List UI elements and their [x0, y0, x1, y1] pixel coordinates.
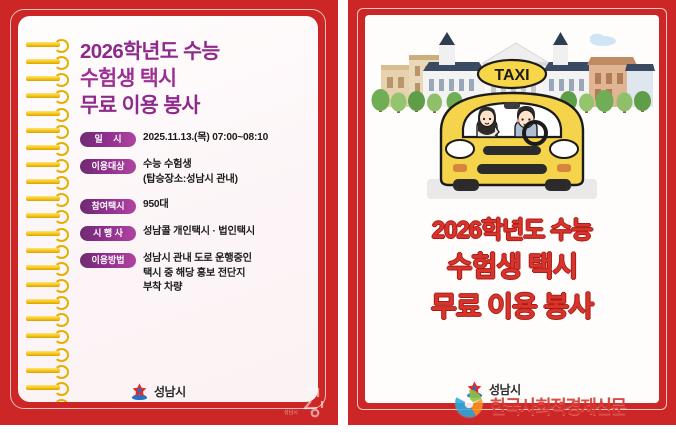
spiral-ring [26, 366, 70, 374]
grille-lower [477, 164, 547, 174]
spiral-ring [26, 143, 70, 151]
spiral-ring [26, 383, 70, 391]
spiral-ring [26, 314, 70, 322]
right-title-line-1: 2026학년도 수능 [365, 215, 659, 246]
taxi-roof-sign: TAXI [478, 60, 546, 88]
spiral-ring [26, 91, 70, 99]
right-title-line-3: 무료 이용 봉사 [365, 289, 659, 325]
row-value-target: 수능 수험생 (탑승장소:성남시 관내) [143, 158, 238, 187]
wheel-left [453, 179, 479, 191]
fog-light-right [557, 164, 571, 172]
taxi-illustration: TAXI [365, 19, 659, 215]
row-value-operator: 성남콜 개인택시 · 법인택시 [143, 225, 255, 239]
headlight-left [446, 140, 474, 158]
seongnam-city-logo-text: 성남시 [154, 383, 186, 400]
left-poster-notepad-card: 2026학년도 수능 수험생 택시 무료 이용 봉사 일 시 2025.11.1… [18, 16, 318, 402]
row-value-line: (탑승장소:성남시 관내) [143, 173, 238, 187]
detail-row-datetime: 일 시 2025.11.13.(목) 07:00~08:10 [80, 131, 318, 147]
spiral-ring [26, 40, 70, 48]
taxi-sign-label: TAXI [494, 67, 529, 84]
row-value-line: 부착 차량 [143, 281, 252, 295]
spiral-ring [26, 246, 70, 254]
azalea-flower-icon [130, 382, 149, 401]
left-title-line-1: 2026학년도 수능 [80, 38, 318, 65]
row-value-line: 택시 중 해당 홍보 전단지 [143, 267, 252, 281]
right-poster-title: 2026학년도 수능 수험생 택시 무료 이용 봉사 [365, 215, 659, 325]
row-label-howto: 이용방법 [80, 253, 136, 268]
detail-row-howto: 이용방법 성남시 관내 도로 운행중인 택시 중 해당 홍보 전단지 부착 차량 [80, 252, 318, 295]
fog-light-left [453, 164, 467, 172]
row-value-line: 성남시 관내 도로 운행중인 [143, 252, 252, 266]
poster-pair-image: 2026학년도 수능 수험생 택시 무료 이용 봉사 일 시 2025.11.1… [0, 0, 676, 433]
left-title-line-2: 수험생 택시 [80, 65, 318, 92]
spiral-ring [26, 74, 70, 82]
spiral-ring [26, 211, 70, 219]
detail-row-operator: 시 행 사 성남콜 개인택시 · 법인택시 [80, 225, 318, 241]
spiral-ring [26, 57, 70, 65]
news-outlet-watermark: 한국사회적경제신문 [452, 386, 668, 426]
spiral-ring [26, 297, 70, 305]
right-poster: TAXI [348, 0, 676, 425]
spiral-ring [26, 229, 70, 237]
taxi-car [441, 93, 583, 191]
row-value-datetime: 2025.11.13.(목) 07:00~08:10 [143, 131, 268, 145]
spiral-ring [26, 280, 70, 288]
spiral-ring [26, 126, 70, 134]
row-label-datetime: 일 시 [80, 132, 136, 147]
row-value-line: 성남콜 개인택시 · 법인택시 [143, 225, 255, 239]
row-value-line: 950대 [143, 198, 169, 212]
spiral-ring [26, 400, 70, 402]
watermark-text: 한국사회적경제신문 [490, 393, 626, 419]
headlight-right [550, 140, 578, 158]
seongnam-corner-watermark: 성남시 [270, 385, 328, 419]
left-poster-title: 2026학년도 수능 수험생 택시 무료 이용 봉사 [80, 38, 318, 119]
detail-rows: 일 시 2025.11.13.(목) 07:00~08:10 이용대상 수능 수… [80, 131, 318, 295]
row-label-taxi-count: 참여택시 [80, 199, 136, 214]
spiral-ring [26, 109, 70, 117]
left-title-line-3: 무료 이용 봉사 [80, 92, 318, 119]
svg-text:성남시: 성남시 [284, 409, 298, 416]
rear-view-mirror [504, 102, 520, 109]
spiral-ring [26, 331, 70, 339]
left-poster-content: 2026학년도 수능 수험생 택시 무료 이용 봉사 일 시 2025.11.1… [80, 38, 318, 307]
spiral-ring [26, 177, 70, 185]
detail-row-target: 이용대상 수능 수험생 (탑승장소:성남시 관내) [80, 158, 318, 187]
row-value-line: 2025.11.13.(목) 07:00~08:10 [143, 131, 268, 145]
right-title-line-2: 수험생 택시 [365, 249, 659, 285]
detail-row-taxi-count: 참여택시 950대 [80, 198, 318, 214]
spiral-ring [26, 194, 70, 202]
row-label-target: 이용대상 [80, 159, 136, 174]
row-value-taxi-count: 950대 [143, 198, 169, 212]
spiral-ring [26, 263, 70, 271]
grille-upper [483, 146, 541, 155]
row-value-howto: 성남시 관내 도로 운행중인 택시 중 해당 홍보 전단지 부착 차량 [143, 252, 252, 295]
spiral-ring [26, 160, 70, 168]
spiral-ring [26, 349, 70, 357]
spiral-binding [26, 40, 72, 402]
wheel-right [545, 179, 571, 191]
right-poster-card: TAXI [365, 15, 659, 403]
watermark-globe-icon [452, 387, 486, 426]
row-label-operator: 시 행 사 [80, 226, 136, 241]
row-value-line: 수능 수험생 [143, 158, 238, 172]
left-poster: 2026학년도 수능 수험생 택시 무료 이용 봉사 일 시 2025.11.1… [0, 0, 338, 425]
seongnam-city-logo: 성남시 [130, 382, 186, 401]
